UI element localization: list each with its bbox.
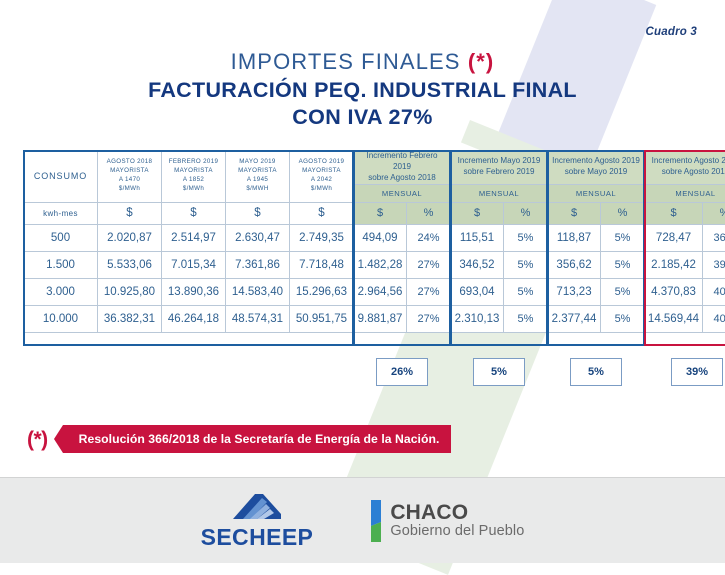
- summary-box-1: 5%: [473, 358, 525, 386]
- row-0-mayorista-2: 2.630,47: [226, 224, 290, 251]
- header-increment-1: Incremento Mayo 2019 sobre Febrero 2019: [451, 151, 548, 185]
- page-root: Cuadro 3 IMPORTES FINALES (*) FACTURACIÓ…: [0, 0, 725, 563]
- row-0-inc-0-pct: 24%: [407, 224, 451, 251]
- footnote: (*) Resolución 366/2018 de la Secretaría…: [27, 424, 451, 454]
- row-0-mayorista-3: 2.749,35: [290, 224, 354, 251]
- row-0-mayorista-1: 2.514,97: [162, 224, 226, 251]
- header-mayorista-0-l4: $/MWh: [98, 185, 161, 194]
- header-mayorista-3-l2: MAYORISTA: [290, 167, 353, 176]
- row-1-inc-1-money: 346,52: [451, 251, 504, 278]
- header-increment-2-l2: sobre Mayo 2019: [551, 167, 641, 178]
- row-3-inc-2-pct: 5%: [601, 305, 645, 332]
- row-0-inc-2-money: 118,87: [548, 224, 601, 251]
- row-2-inc-1-pct: 5%: [504, 278, 548, 305]
- header-increment-1-l2: sobre Febrero 2019: [454, 167, 544, 178]
- row-2-inc-1-money: 693,04: [451, 278, 504, 305]
- header-mayorista-1-l4: $/MWh: [162, 185, 225, 194]
- header-increment-1-l1: Incremento Mayo 2019: [454, 156, 544, 167]
- row-2-inc-0-pct: 27%: [407, 278, 451, 305]
- row-1-inc-1-pct: 5%: [504, 251, 548, 278]
- row-3-mayorista-1: 46.264,18: [162, 305, 226, 332]
- table-row: 500 2.020,87 2.514,97 2.630,47 2.749,35 …: [24, 224, 725, 251]
- unit-mayorista-3: $: [290, 202, 354, 224]
- row-1-consumo: 1.500: [24, 251, 98, 278]
- unit-increment-3-pct: %: [703, 202, 725, 224]
- table-row: 1.500 5.533,06 7.015,34 7.361,86 7.718,4…: [24, 251, 725, 278]
- chaco-name: CHACO: [390, 501, 524, 524]
- table-unit-row: kwh-mes $ $ $ $ $ % $ % $ % $ %: [24, 202, 725, 224]
- header-increment-2-l1: Incremento Agosto 2019: [551, 156, 641, 167]
- row-2-inc-2-pct: 5%: [601, 278, 645, 305]
- row-3-consumo: 10.000: [24, 305, 98, 332]
- cuadro-label: Cuadro 3: [646, 26, 697, 38]
- table-row: 10.000 36.382,31 46.264,18 48.574,31 50.…: [24, 305, 725, 332]
- row-3-inc-1-money: 2.310,13: [451, 305, 504, 332]
- row-1-mayorista-1: 7.015,34: [162, 251, 226, 278]
- row-3-mayorista-2: 48.574,31: [226, 305, 290, 332]
- page-title-line2: FACTURACIÓN PEQ. INDUSTRIAL FINAL: [0, 77, 725, 104]
- page-title-line3: CON IVA 27%: [0, 104, 725, 131]
- unit-mayorista-0: $: [98, 202, 162, 224]
- footnote-asterisk: (*): [27, 429, 48, 450]
- unit-increment-2-money: $: [548, 202, 601, 224]
- row-2-mayorista-3: 15.296,63: [290, 278, 354, 305]
- header-increment-3-l1: Incremento Agosto 2019: [648, 156, 725, 167]
- row-1-mayorista-3: 7.718,48: [290, 251, 354, 278]
- unit-increment-2-pct: %: [601, 202, 645, 224]
- row-0-inc-1-pct: 5%: [504, 224, 548, 251]
- tarifa-table: CONSUMO AGOSTO 2018 MAYORISTA A 1470 $/M…: [23, 150, 725, 333]
- header-increment-0-l2: sobre Agosto 2018: [357, 173, 447, 184]
- footnote-banner: Resolución 366/2018 de la Secretaría de …: [63, 425, 452, 453]
- row-3-inc-1-pct: 5%: [504, 305, 548, 332]
- secheep-logo: SECHEEP: [201, 492, 314, 549]
- header-increment-3-l2: sobre Agosto 2018: [648, 167, 725, 178]
- row-1-inc-0-money: 1.482,28: [354, 251, 407, 278]
- table-row: 3.000 10.925,80 13.890,36 14.583,40 15.2…: [24, 278, 725, 305]
- row-1-mayorista-2: 7.361,86: [226, 251, 290, 278]
- unit-increment-0-pct: %: [407, 202, 451, 224]
- table-body: CONSUMO AGOSTO 2018 MAYORISTA A 1470 $/M…: [24, 151, 725, 333]
- row-2-inc-2-money: 713,23: [548, 278, 601, 305]
- header-mayorista-2-l1: MAYO 2019: [226, 158, 289, 167]
- row-2-inc-0-money: 2.964,56: [354, 278, 407, 305]
- row-2-consumo: 3.000: [24, 278, 98, 305]
- title-line1-text: IMPORTES FINALES: [231, 49, 461, 74]
- row-0-inc-3-money: 728,47: [645, 224, 703, 251]
- header-mayorista-1-l2: MAYORISTA: [162, 167, 225, 176]
- chaco-text: CHACO Gobierno del Pueblo: [390, 501, 524, 540]
- page-footer: SECHEEP CHACO Gobierno del Pueblo: [0, 477, 725, 563]
- unit-increment-3-money: $: [645, 202, 703, 224]
- summary-box-3: 39%: [671, 358, 723, 386]
- header-increment-0: Incremento Febrero 2019 sobre Agosto 201…: [354, 151, 451, 185]
- chaco-logo: CHACO Gobierno del Pueblo: [371, 500, 524, 542]
- header-mayorista-0-l3: A 1470: [98, 176, 161, 185]
- row-0-mayorista-0: 2.020,87: [98, 224, 162, 251]
- unit-mayorista-2: $: [226, 202, 290, 224]
- row-2-mayorista-2: 14.583,40: [226, 278, 290, 305]
- row-0-inc-1-money: 115,51: [451, 224, 504, 251]
- row-1-inc-2-pct: 5%: [601, 251, 645, 278]
- header-mayorista-0-l2: MAYORISTA: [98, 167, 161, 176]
- secheep-wordmark: SECHEEP: [201, 526, 314, 549]
- header-mayorista-3-l1: AGOSTO 2019: [290, 158, 353, 167]
- unit-increment-1-money: $: [451, 202, 504, 224]
- summary-boxes-row: 26% 5% 5% 39%: [23, 358, 702, 388]
- row-3-mayorista-0: 36.382,31: [98, 305, 162, 332]
- header-mayorista-2-l4: $/MWH: [226, 185, 289, 194]
- header-increment-3: Incremento Agosto 2019 sobre Agosto 2018: [645, 151, 725, 185]
- row-3-inc-3-pct: 40%: [703, 305, 725, 332]
- row-3-inc-3-money: 14.569,44: [645, 305, 703, 332]
- title-asterisk: (*): [468, 49, 495, 74]
- unit-kwh-mes: kwh-mes: [24, 202, 98, 224]
- page-title-line1: IMPORTES FINALES (*): [0, 50, 725, 74]
- header-mayorista-0-l1: AGOSTO 2018: [98, 158, 161, 167]
- row-2-inc-3-pct: 40%: [703, 278, 725, 305]
- header-mayorista-3: AGOSTO 2019 MAYORISTA A 2042 $/MWh: [290, 151, 354, 203]
- header-mensual-3: MENSUAL: [645, 184, 725, 202]
- row-2-mayorista-0: 10.925,80: [98, 278, 162, 305]
- header-increment-0-l1: Incremento Febrero 2019: [357, 151, 447, 173]
- unit-mayorista-1: $: [162, 202, 226, 224]
- chaco-tagline: Gobierno del Pueblo: [390, 524, 524, 540]
- row-3-inc-2-money: 2.377,44: [548, 305, 601, 332]
- header-mensual-0: MENSUAL: [354, 184, 451, 202]
- row-0-inc-3-pct: 36%: [703, 224, 725, 251]
- row-1-inc-3-money: 2.185,42: [645, 251, 703, 278]
- header-mayorista-1: FEBRERO 2019 MAYORISTA A 1852 $/MWh: [162, 151, 226, 203]
- chaco-bar-icon: [371, 500, 381, 542]
- row-3-inc-0-pct: 27%: [407, 305, 451, 332]
- summary-box-2: 5%: [570, 358, 622, 386]
- row-0-inc-2-pct: 5%: [601, 224, 645, 251]
- row-1-inc-2-money: 356,62: [548, 251, 601, 278]
- row-1-mayorista-0: 5.533,06: [98, 251, 162, 278]
- header-mayorista-1-l1: FEBRERO 2019: [162, 158, 225, 167]
- row-3-mayorista-3: 50.951,75: [290, 305, 354, 332]
- secheep-arrow-icon: [229, 492, 285, 525]
- row-1-inc-0-pct: 27%: [407, 251, 451, 278]
- header-mayorista-2: MAYO 2019 MAYORISTA A 1945 $/MWH: [226, 151, 290, 203]
- header-mayorista-3-l4: $/MWh: [290, 185, 353, 194]
- row-0-inc-0-money: 494,09: [354, 224, 407, 251]
- header-mensual-1: MENSUAL: [451, 184, 548, 202]
- row-3-inc-0-money: 9.881,87: [354, 305, 407, 332]
- header-mayorista-2-l3: A 1945: [226, 176, 289, 185]
- data-table-wrapper: CONSUMO AGOSTO 2018 MAYORISTA A 1470 $/M…: [23, 150, 702, 333]
- title-block: IMPORTES FINALES (*) FACTURACIÓN PEQ. IN…: [0, 0, 725, 131]
- header-consumo: CONSUMO: [24, 151, 98, 203]
- table-header-row-group: CONSUMO AGOSTO 2018 MAYORISTA A 1470 $/M…: [24, 151, 725, 185]
- header-mayorista-3-l3: A 2042: [290, 176, 353, 185]
- header-increment-2: Incremento Agosto 2019 sobre Mayo 2019: [548, 151, 645, 185]
- header-mayorista-0: AGOSTO 2018 MAYORISTA A 1470 $/MWh: [98, 151, 162, 203]
- header-mayorista-1-l3: A 1852: [162, 176, 225, 185]
- unit-increment-0-money: $: [354, 202, 407, 224]
- header-mensual-2: MENSUAL: [548, 184, 645, 202]
- header-mayorista-2-l2: MAYORISTA: [226, 167, 289, 176]
- row-1-inc-3-pct: 39%: [703, 251, 725, 278]
- row-0-consumo: 500: [24, 224, 98, 251]
- summary-box-0: 26%: [376, 358, 428, 386]
- row-2-mayorista-1: 13.890,36: [162, 278, 226, 305]
- unit-increment-1-pct: %: [504, 202, 548, 224]
- row-2-inc-3-money: 4.370,83: [645, 278, 703, 305]
